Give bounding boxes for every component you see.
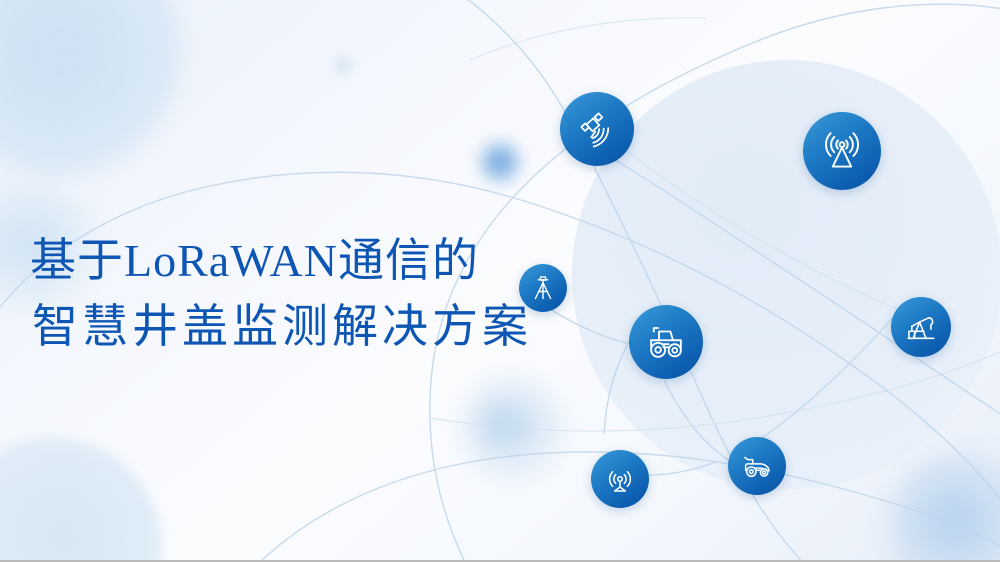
harvester-icon xyxy=(740,449,774,483)
oil-pumpjack-icon xyxy=(904,310,938,344)
background-blob-top-dot xyxy=(330,52,356,78)
title-line-primary: 基于LoRaWAN通信的 xyxy=(30,228,590,294)
sensor-signal-icon xyxy=(604,463,636,495)
node-radio-tower[interactable] xyxy=(803,112,881,190)
satellite-icon xyxy=(577,109,617,149)
background-blob-top-left xyxy=(0,0,188,182)
background-globe-circle xyxy=(572,60,1000,490)
title-line-secondary: 智慧井盖监测解决方案 xyxy=(30,294,590,360)
node-sensor-signal[interactable] xyxy=(591,450,649,508)
background-blob-bottom-left xyxy=(0,438,162,562)
node-satellite[interactable] xyxy=(560,92,634,166)
node-oil-pumpjack[interactable] xyxy=(891,297,951,357)
background-blob-bottom-right xyxy=(886,452,1000,562)
background-blob-center-small xyxy=(470,395,530,455)
node-harvester[interactable] xyxy=(728,437,786,495)
slide-canvas: 基于LoRaWAN通信的 智慧井盖监测解决方案 xyxy=(0,0,1000,562)
node-tractor[interactable] xyxy=(629,305,703,379)
title-block: 基于LoRaWAN通信的 智慧井盖监测解决方案 xyxy=(30,228,590,360)
radio-tower-icon xyxy=(820,129,864,173)
background-blob-center xyxy=(452,368,570,486)
tractor-icon xyxy=(645,321,687,363)
background-accent-dot xyxy=(476,138,524,186)
